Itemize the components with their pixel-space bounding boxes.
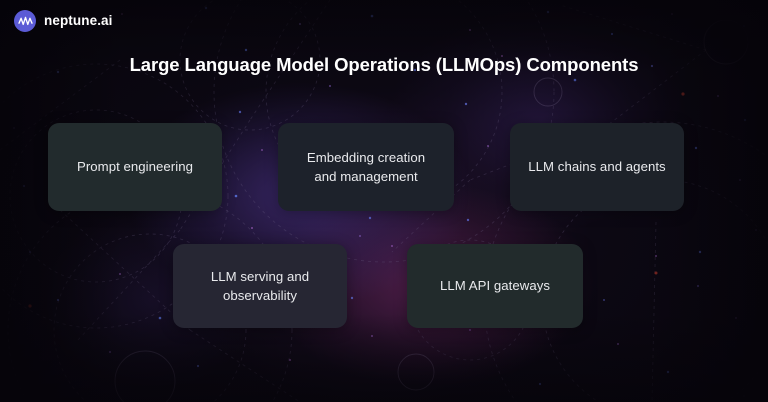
component-card-label: LLM API gateways [440,276,550,295]
slide-canvas: neptune.ai Large Language Model Operatio… [0,0,768,402]
page-title: Large Language Model Operations (LLMOps)… [0,54,768,76]
component-card[interactable]: LLM serving and observability [173,244,347,328]
component-card-label: LLM chains and agents [528,157,665,176]
component-card-label: Embedding creation and management [294,148,438,186]
component-card[interactable]: Prompt engineering [48,123,222,211]
brand-logo: neptune.ai [14,10,113,32]
brand-name: neptune.ai [44,14,113,28]
component-card-label: LLM serving and observability [189,267,331,305]
neptune-wave-icon [14,10,36,32]
component-card[interactable]: Embedding creation and management [278,123,454,211]
component-card[interactable]: LLM chains and agents [510,123,684,211]
component-card-label: Prompt engineering [77,157,193,176]
component-card[interactable]: LLM API gateways [407,244,583,328]
